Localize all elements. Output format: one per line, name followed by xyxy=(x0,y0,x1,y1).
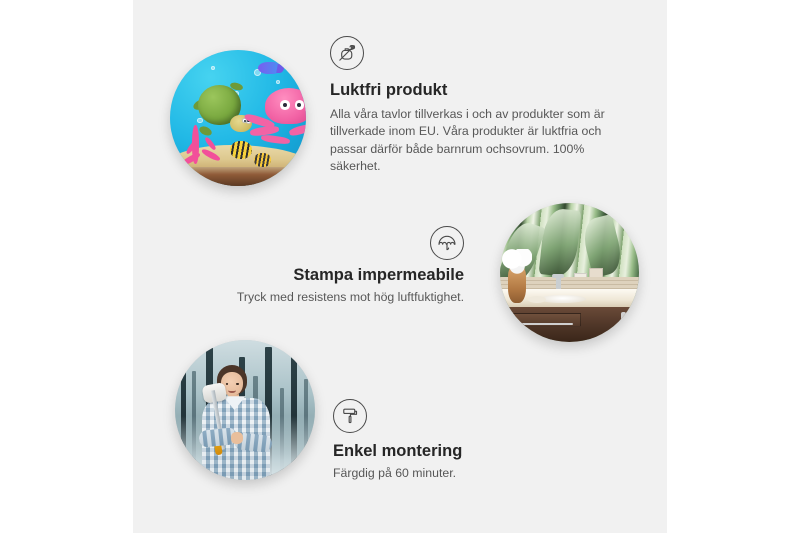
page-root: Luktfri produkt Alla våra tavlor tillver… xyxy=(0,0,800,533)
content-panel: Luktfri produkt Alla våra tavlor tillver… xyxy=(133,0,667,533)
sea-floor-rock xyxy=(170,167,306,186)
paint-roller-icon xyxy=(333,399,367,433)
purple-fish-icon xyxy=(258,62,278,74)
sink-basin xyxy=(539,295,586,303)
feature-block-waterproof: Stampa impermeabile Tryck med resistens … xyxy=(183,226,464,306)
underwater-cartoon-circle-photo xyxy=(170,50,306,186)
feature-block-odour-free: Luktfri produkt Alla våra tavlor tillver… xyxy=(330,36,630,176)
feature-body: Alla våra tavlor tillverkas i och av pro… xyxy=(330,106,630,176)
soap-dish xyxy=(528,296,546,303)
coral-illustration xyxy=(178,123,222,164)
feature-title: Luktfri produkt xyxy=(330,81,630,101)
feature-body: Färgdig på 60 minuter. xyxy=(333,465,593,482)
woman-figure xyxy=(197,365,273,480)
striped-fish-icon xyxy=(230,141,252,159)
woman-with-paint-roller-circle-photo xyxy=(175,340,315,480)
no-fragrance-icon xyxy=(330,36,364,70)
feature-block-easy-mounting: Enkel montering Färgdig på 60 minuter. xyxy=(333,399,593,482)
feature-body: Tryck med resistens mot hög luftfuktighe… xyxy=(183,289,464,306)
feature-title: Enkel montering xyxy=(333,442,593,462)
umbrella-icon xyxy=(430,226,464,260)
octopus-illustration xyxy=(249,88,306,151)
bathroom-tropical-wallpaper-circle-photo xyxy=(500,203,639,342)
feature-title: Stampa impermeabile xyxy=(183,266,464,286)
flowers-object xyxy=(501,249,532,274)
vanity-cabinet xyxy=(500,307,639,342)
striped-fish-icon xyxy=(254,153,270,167)
